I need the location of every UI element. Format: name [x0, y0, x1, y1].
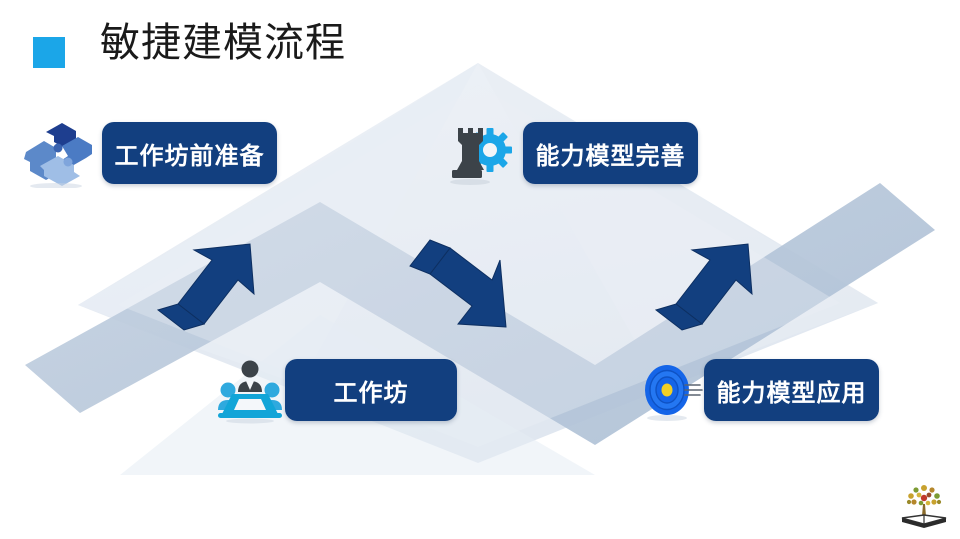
meeting-presentation-icon: [216, 356, 284, 424]
step-label-workshop-prep[interactable]: 工作坊前准备: [102, 122, 277, 184]
page-title: 敏捷建模流程: [100, 17, 346, 69]
arrow-3: [648, 232, 768, 337]
title-bullet-square: [33, 37, 65, 68]
arrow-2: [408, 232, 528, 337]
target-dartboard-icon: [640, 356, 708, 424]
tree-of-knowledge-book-logo: [896, 476, 952, 532]
arrow-1: [150, 232, 270, 337]
slide-title-bar: 敏捷建模流程: [0, 0, 960, 80]
slide-canvas: 敏捷建模流程 工作坊前准备: [0, 0, 960, 539]
puzzle-pieces-icon: [18, 118, 94, 188]
step-label-model-refine[interactable]: 能力模型完善: [523, 122, 698, 184]
chess-rook-gear-icon: [446, 120, 518, 188]
step-label-workshop[interactable]: 工作坊: [285, 359, 457, 421]
step-label-model-apply[interactable]: 能力模型应用: [704, 359, 879, 421]
